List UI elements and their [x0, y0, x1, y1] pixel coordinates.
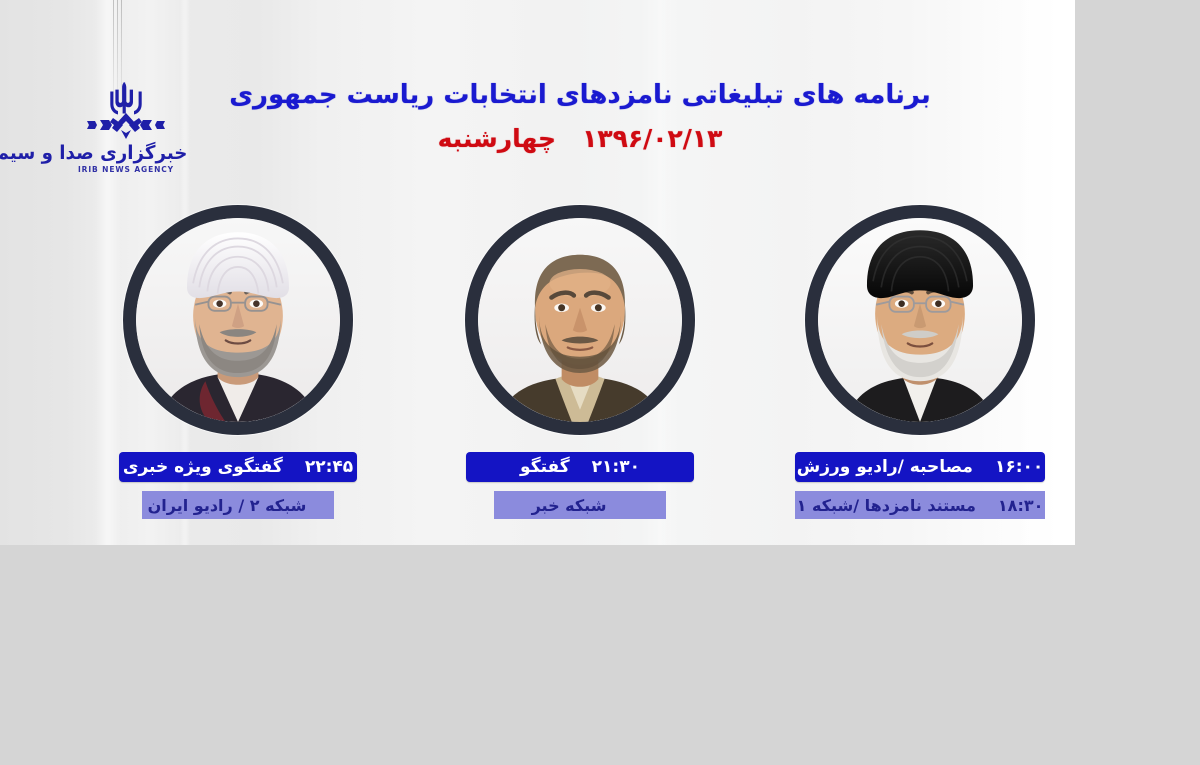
candidate-card: گفتگو ۲۱:۳۰ شبکه خبر: [430, 205, 730, 519]
channel-label: مستند نامزدها /شبکه ۱: [797, 496, 976, 515]
date-row: چهارشنبه ۱۳۹۶/۰۲/۱۳: [200, 124, 960, 153]
program-bar-secondary: مستند نامزدها /شبکه ۱ ۱۸:۳۰: [795, 491, 1045, 519]
screenshot-stage: خبرگزاری صدا و سیما IRIB NEWS AGENCY برن…: [0, 0, 1200, 765]
program-time: ۱۶:۰۰: [995, 457, 1043, 477]
candidate-card: مصاحبه /رادیو ورزش ۱۶:۰۰ مستند نامزدها /…: [770, 205, 1070, 519]
program-bar-primary: گفتگوی ویژه خبری ۲۲:۴۵: [119, 452, 357, 482]
portrait-cleric-black-turban: [818, 218, 1022, 422]
program-title: گفتگوی ویژه خبری: [123, 457, 283, 477]
program-time: ۲۱:۳۰: [592, 457, 640, 477]
irib-logo: خبرگزاری صدا و سیما IRIB NEWS AGENCY: [62, 80, 190, 198]
poster-header: برنامه های تبلیغاتی نامزدهای انتخابات ری…: [200, 78, 960, 153]
portrait-ring: [123, 205, 353, 435]
irib-wordmark-fa: خبرگزاری صدا و سیما: [65, 143, 188, 163]
program-bar-secondary: شبکه خبر: [494, 491, 666, 519]
portrait-cleric-white-turban: [136, 218, 340, 422]
portrait-ring: [805, 205, 1035, 435]
program-title: گفتگو: [520, 457, 570, 477]
portrait-man-dark-sweater: [478, 218, 682, 422]
date-label: ۱۳۹۶/۰۲/۱۳: [582, 124, 722, 153]
page-title: برنامه های تبلیغاتی نامزدهای انتخابات ری…: [200, 78, 960, 112]
weekday-label: چهارشنبه: [438, 124, 556, 153]
iran-emblem-icon: [83, 80, 169, 142]
channel-label: شبکه ۲ / رادیو ایران: [148, 496, 307, 515]
program-bar-secondary: شبکه ۲ / رادیو ایران: [142, 491, 334, 519]
channel-label: شبکه خبر: [532, 496, 607, 515]
program-title: مصاحبه /رادیو ورزش: [797, 457, 973, 477]
program-time: ۲۲:۴۵: [305, 457, 353, 477]
irib-wordmark-en: IRIB NEWS AGENCY: [62, 165, 190, 174]
program-bar-primary: مصاحبه /رادیو ورزش ۱۶:۰۰: [795, 452, 1045, 482]
program-bar-primary: گفتگو ۲۱:۳۰: [466, 452, 694, 482]
election-broadcast-poster: خبرگزاری صدا و سیما IRIB NEWS AGENCY برن…: [0, 0, 1075, 545]
channel-time: ۱۸:۳۰: [998, 496, 1043, 515]
candidate-card: گفتگوی ویژه خبری ۲۲:۴۵ شبکه ۲ / رادیو ای…: [88, 205, 388, 519]
portrait-ring: [465, 205, 695, 435]
